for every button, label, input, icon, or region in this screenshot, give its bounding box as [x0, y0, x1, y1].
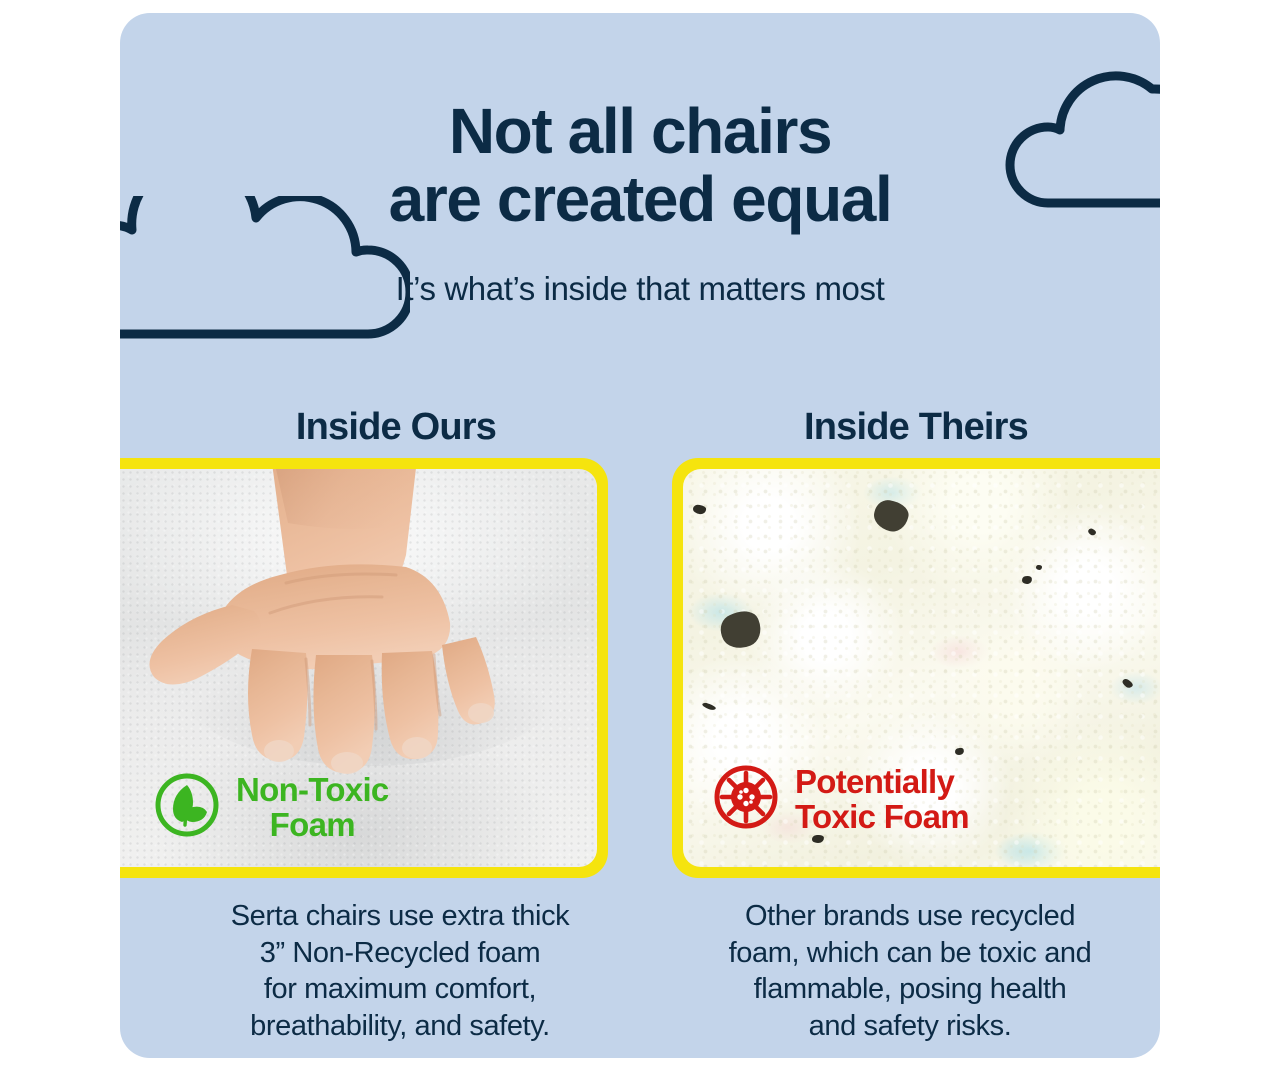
infographic-canvas: Not all chairs are created equal It’s wh… [0, 0, 1280, 1073]
caption-ours-line-1: Serta chairs use extra thick [140, 898, 660, 935]
caption-theirs-line-3: flammable, posing health [660, 971, 1160, 1008]
caption-theirs: Other brands use recycled foam, which ca… [660, 898, 1160, 1044]
caption-theirs-line-4: and safety risks. [660, 1008, 1160, 1045]
blue-panel: Not all chairs are created equal It’s wh… [120, 13, 1160, 1058]
badge-non-toxic-label: Non-Toxic Foam [236, 773, 389, 843]
photo-card-ours: Non-Toxic Foam [120, 458, 608, 878]
caption-theirs-line-2: foam, which can be toxic and [660, 935, 1160, 972]
caption-ours: Serta chairs use extra thick 3” Non-Recy… [140, 898, 660, 1044]
badge-toxic-line-1: Potentially [795, 763, 954, 800]
caption-ours-line-4: breathability, and safety. [140, 1008, 660, 1045]
badge-toxic: Potentially Toxic Foam [711, 762, 969, 837]
headline-line-2: are created equal [120, 166, 1160, 234]
caption-theirs-line-1: Other brands use recycled [660, 898, 1160, 935]
caption-ours-line-3: for maximum comfort, [140, 971, 660, 1008]
caption-ours-line-2: 3” Non-Recycled foam [140, 935, 660, 972]
badge-non-toxic-line-1: Non-Toxic [236, 771, 389, 808]
photo-non-toxic-foam: Non-Toxic Foam [120, 469, 597, 867]
leaf-icon [152, 770, 222, 845]
headline-line-1: Not all chairs [120, 98, 1160, 166]
badge-toxic-label: Potentially Toxic Foam [795, 765, 969, 835]
debris-fleck [1036, 565, 1042, 570]
badge-non-toxic-line-2: Foam [236, 808, 389, 843]
badge-non-toxic: Non-Toxic Foam [152, 770, 389, 845]
subheadline: It’s what’s inside that matters most [120, 271, 1160, 307]
photo-card-theirs: Potentially Toxic Foam [672, 458, 1160, 878]
column-header-ours: Inside Ours [120, 406, 672, 449]
column-header-theirs: Inside Theirs [672, 406, 1160, 449]
photo-toxic-foam: Potentially Toxic Foam [683, 469, 1160, 867]
badge-toxic-line-2: Toxic Foam [795, 800, 969, 835]
germ-icon [711, 762, 781, 837]
headline: Not all chairs are created equal [120, 98, 1160, 234]
